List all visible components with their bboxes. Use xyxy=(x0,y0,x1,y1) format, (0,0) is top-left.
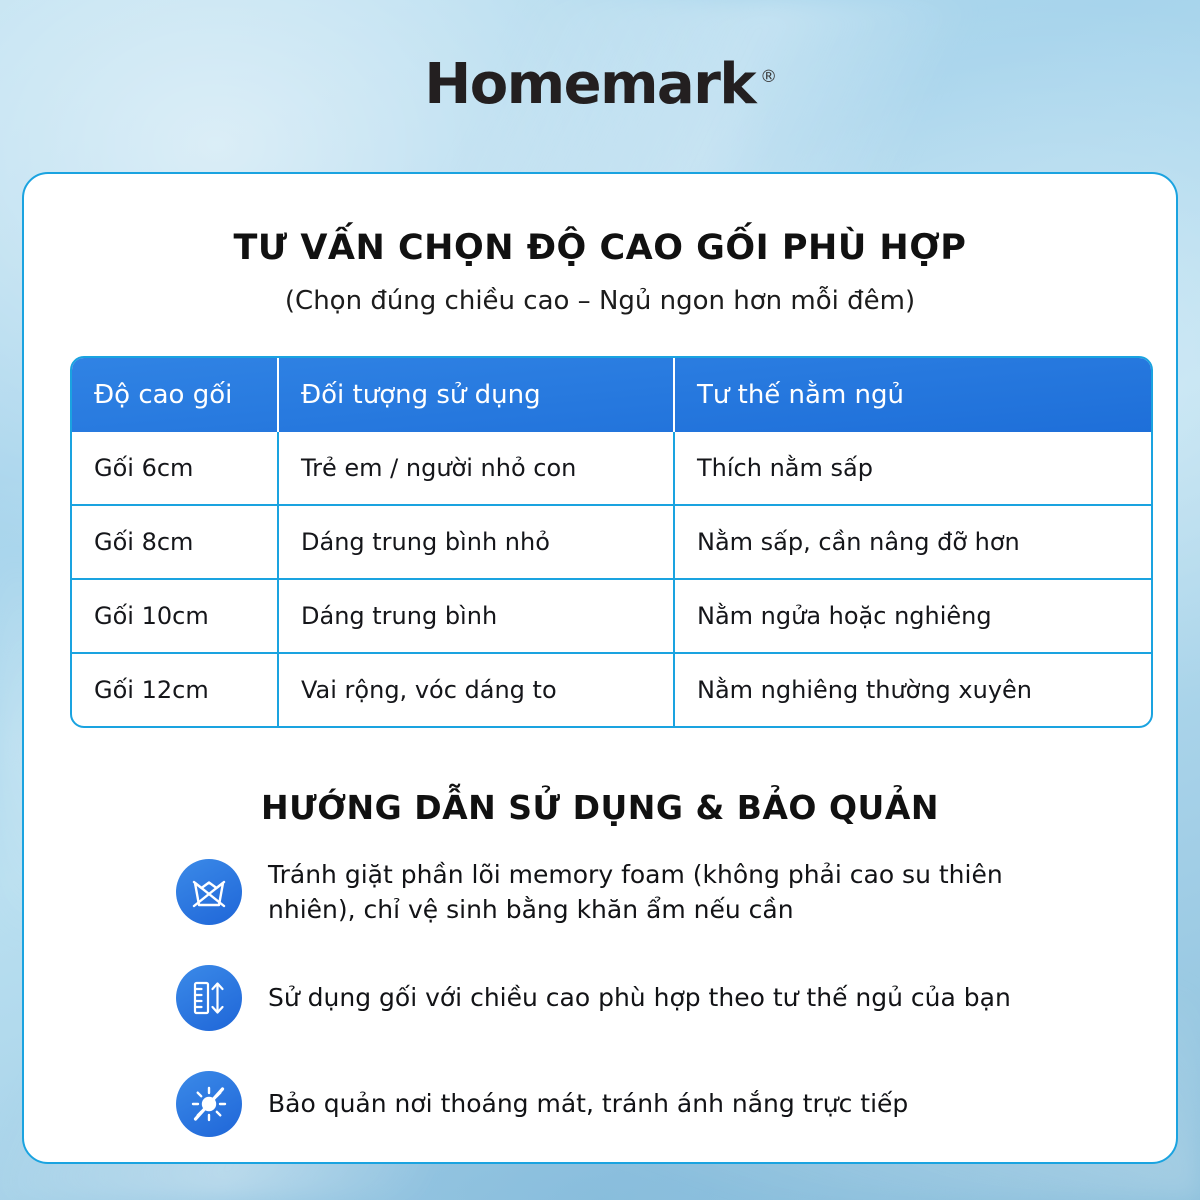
care-item-text: Sử dụng gối với chiều cao phù hợp theo t… xyxy=(268,980,1011,1016)
cell-height: Gối 8cm xyxy=(72,506,277,578)
brand-header: Homemark ® xyxy=(0,0,1200,170)
table-header-height: Độ cao gối xyxy=(72,358,277,432)
table-row: Gối 8cm Dáng trung bình nhỏ Nằm sấp, cần… xyxy=(72,504,1151,578)
cell-posture: Nằm ngửa hoặc nghiêng xyxy=(673,580,1151,652)
table-row: Gối 12cm Vai rộng, vóc dáng to Nằm nghiê… xyxy=(72,652,1151,726)
cell-audience: Dáng trung bình nhỏ xyxy=(277,506,673,578)
table-header-row: Độ cao gối Đối tượng sử dụng Tư thế nằm … xyxy=(72,358,1151,432)
pillow-height-table: Độ cao gối Đối tượng sử dụng Tư thế nằm … xyxy=(70,356,1153,728)
logo: Homemark ® xyxy=(424,57,775,113)
registered-trademark-icon: ® xyxy=(760,69,776,86)
ruler-height-icon xyxy=(176,965,242,1031)
cell-posture: Thích nằm sấp xyxy=(673,432,1151,504)
no-wash-icon xyxy=(176,859,242,925)
page-title: TƯ VẤN CHỌN ĐỘ CAO GỐI PHÙ HỢP xyxy=(70,228,1130,268)
logo-text: Homemark xyxy=(424,57,755,113)
cell-height: Gối 6cm xyxy=(72,432,277,504)
table-row: Gối 6cm Trẻ em / người nhỏ con Thích nằm… xyxy=(72,432,1151,504)
table-header-audience: Đối tượng sử dụng xyxy=(277,358,673,432)
cell-posture: Nằm nghiêng thường xuyên xyxy=(673,654,1151,726)
cell-audience: Trẻ em / người nhỏ con xyxy=(277,432,673,504)
cell-height: Gối 10cm xyxy=(72,580,277,652)
table-row: Gối 10cm Dáng trung bình Nằm ngửa hoặc n… xyxy=(72,578,1151,652)
table-body: Gối 6cm Trẻ em / người nhỏ con Thích nằm… xyxy=(72,432,1151,726)
cell-audience: Vai rộng, vóc dáng to xyxy=(277,654,673,726)
cell-audience: Dáng trung bình xyxy=(277,580,673,652)
page-subtitle: (Chọn đúng chiều cao – Ngủ ngon hơn mỗi … xyxy=(70,286,1130,316)
table-header-posture: Tư thế nằm ngủ xyxy=(673,358,1151,432)
care-item-text: Bảo quản nơi thoáng mát, tránh ánh nắng … xyxy=(268,1086,908,1122)
cell-posture: Nằm sấp, cần nâng đỡ hơn xyxy=(673,506,1151,578)
info-card: TƯ VẤN CHỌN ĐỘ CAO GỐI PHÙ HỢP (Chọn đún… xyxy=(22,172,1178,1164)
list-item: Sử dụng gối với chiều cao phù hợp theo t… xyxy=(176,959,1070,1037)
no-sunlight-icon xyxy=(176,1071,242,1137)
list-item: Tránh giặt phần lõi memory foam (không p… xyxy=(176,853,1070,931)
cell-height: Gối 12cm xyxy=(72,654,277,726)
care-instruction-list: Tránh giặt phần lõi memory foam (không p… xyxy=(70,853,1130,1143)
list-item: Bảo quản nơi thoáng mát, tránh ánh nắng … xyxy=(176,1065,1070,1143)
care-item-text: Tránh giặt phần lõi memory foam (không p… xyxy=(268,857,1058,928)
care-section-title: HƯỚNG DẪN SỬ DỤNG & BẢO QUẢN xyxy=(70,788,1130,827)
